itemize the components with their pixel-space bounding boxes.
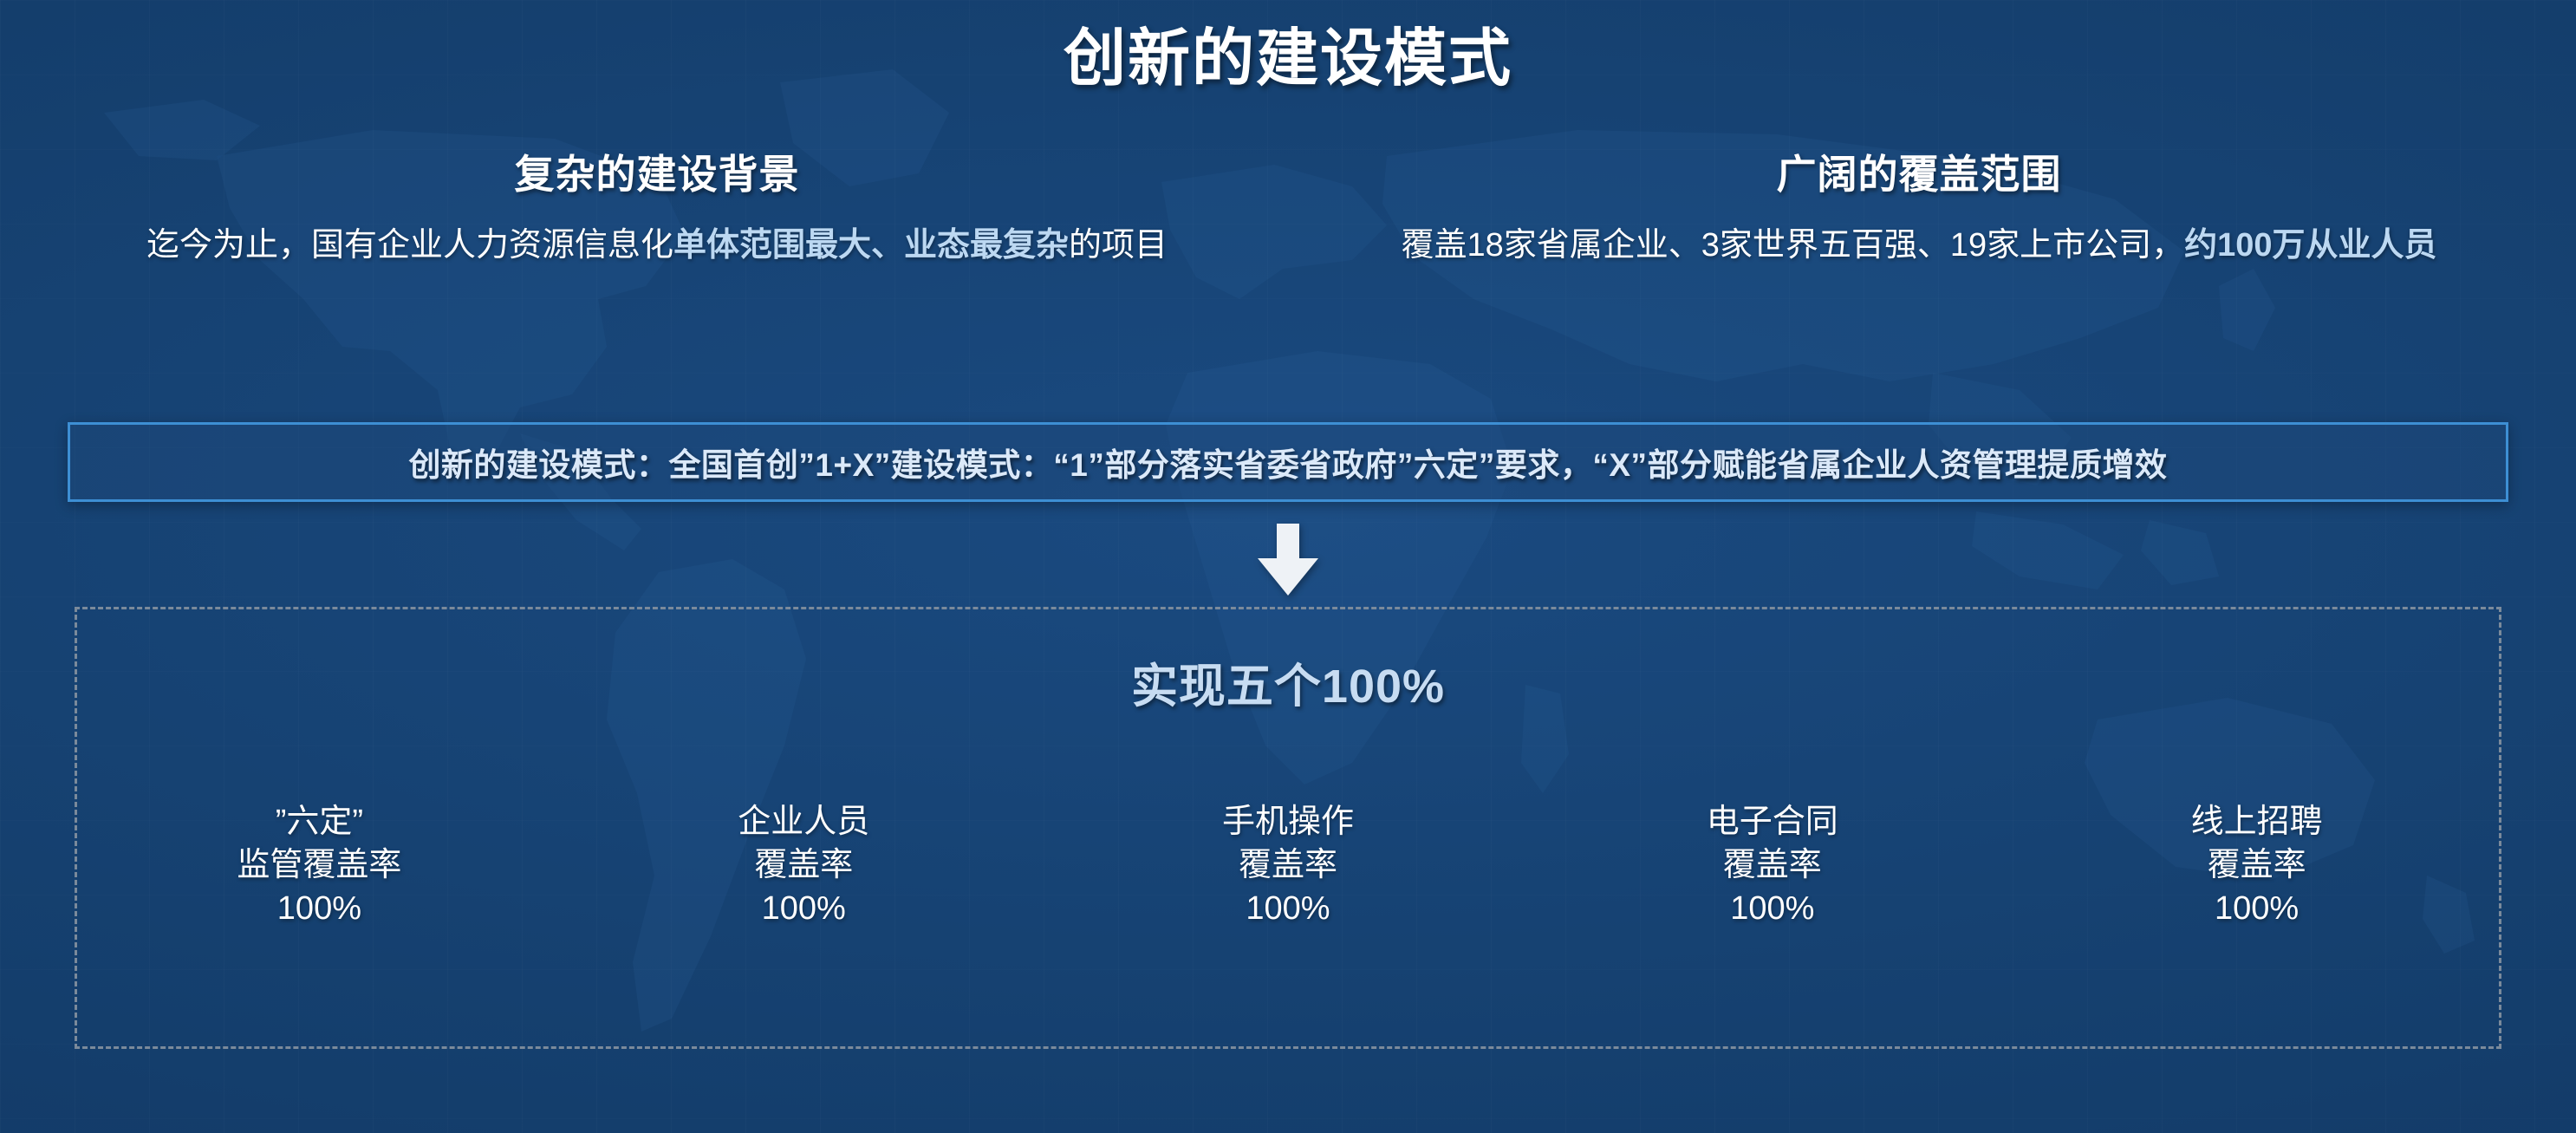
background-text-part-1: 迄今为止，国有企业人力资源信息化 [146, 227, 673, 264]
coverage-text-part-1: 覆盖18家省属企业、3家世界五百强、19家上市公司， [1401, 227, 2184, 264]
column-body-background: 迄今为止，国有企业人力资源信息化单体范围最大、业态最复杂的项目 [61, 225, 1253, 267]
results-panel: 实现五个100% ”六定” 监管覆盖率 100% 企业人员 覆盖率 100% 手… [75, 607, 2501, 1049]
metric-value: 100% [77, 887, 562, 930]
metric-item: 手机操作 覆盖率 100% [1046, 800, 1531, 930]
metric-item: 线上招聘 覆盖率 100% [2014, 800, 2499, 930]
metric-value: 100% [1046, 887, 1531, 930]
coverage-text-highlight: 约100万从业人员 [2184, 227, 2436, 264]
model-banner: 创新的建设模式：全国首创”1+X”建设模式：“1”部分落实省委省政府”六定”要求… [68, 422, 2508, 502]
background-text-part-2: 的项目 [1069, 227, 1168, 264]
metrics-row: ”六定” 监管覆盖率 100% 企业人员 覆盖率 100% 手机操作 覆盖率 1… [77, 800, 2499, 930]
arrow-down-icon [1251, 524, 1325, 596]
column-heading-coverage: 广阔的覆盖范围 [1323, 143, 2515, 200]
columns-section: 复杂的建设背景 迄今为止，国有企业人力资源信息化单体范围最大、业态最复杂的项目 … [0, 143, 2576, 267]
metric-value: 100% [1530, 887, 2014, 930]
metric-item: ”六定” 监管覆盖率 100% [77, 800, 562, 930]
metric-item: 电子合同 覆盖率 100% [1530, 800, 2014, 930]
metric-value: 100% [562, 887, 1046, 930]
background-text-highlight: 单体范围最大、业态最复杂 [673, 227, 1069, 264]
metric-label-line2: 覆盖率 [2014, 843, 2499, 887]
arrow-down-container [0, 524, 2576, 596]
page-title: 创新的建设模式 [0, 7, 2576, 98]
metric-label-line2: 覆盖率 [1046, 843, 1531, 887]
results-panel-title: 实现五个100% [77, 648, 2499, 716]
metric-label-line1: 企业人员 [562, 800, 1046, 843]
column-background: 复杂的建设背景 迄今为止，国有企业人力资源信息化单体范围最大、业态最复杂的项目 [0, 143, 1288, 267]
metric-value: 100% [2014, 887, 2499, 930]
column-body-coverage: 覆盖18家省属企业、3家世界五百强、19家上市公司，约100万从业人员 [1323, 225, 2515, 267]
column-coverage: 广阔的覆盖范围 覆盖18家省属企业、3家世界五百强、19家上市公司，约100万从… [1288, 143, 2576, 267]
model-banner-text: 创新的建设模式：全国首创”1+X”建设模式：“1”部分落实省委省政府”六定”要求… [408, 439, 2167, 485]
metric-label-line2: 监管覆盖率 [77, 843, 562, 887]
metric-label-line1: 手机操作 [1046, 800, 1531, 843]
slide-canvas: 创新的建设模式 复杂的建设背景 迄今为止，国有企业人力资源信息化单体范围最大、业… [0, 0, 2576, 1133]
column-heading-background: 复杂的建设背景 [61, 143, 1253, 200]
metric-item: 企业人员 覆盖率 100% [562, 800, 1046, 930]
metric-label-line2: 覆盖率 [1530, 843, 2014, 887]
metric-label-line1: ”六定” [77, 800, 562, 843]
metric-label-line1: 电子合同 [1530, 800, 2014, 843]
metric-label-line2: 覆盖率 [562, 843, 1046, 887]
metric-label-line1: 线上招聘 [2014, 800, 2499, 843]
